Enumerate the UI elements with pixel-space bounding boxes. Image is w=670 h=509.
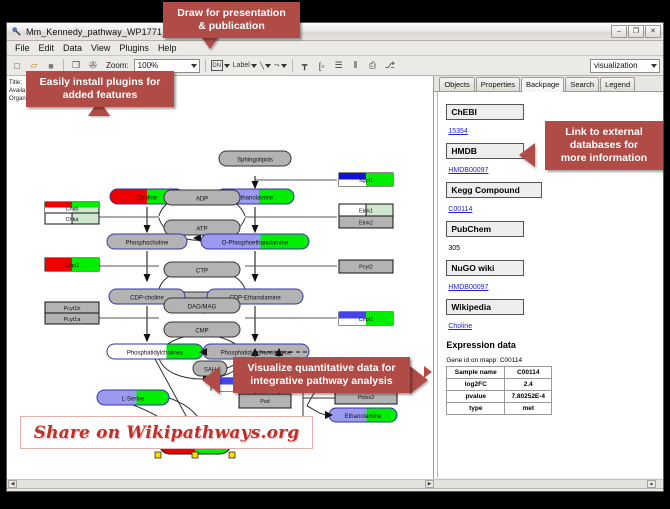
node-l-serine-left[interactable]: L-Serine <box>97 390 169 405</box>
gene-pcyt2[interactable]: Pcyt2 <box>339 260 393 273</box>
gene-chkb-label: Chkb <box>66 207 79 213</box>
node-choline-top-label: Choline <box>137 196 158 202</box>
gene-etnk2-label: Etnk2 <box>359 221 373 227</box>
gene-chka[interactable]: Chka <box>45 213 99 224</box>
link-chebi[interactable]: 15354 <box>448 128 467 135</box>
cell-pvalue-key: pvalue <box>447 391 505 403</box>
section-header-nugo: NuGO wiki <box>446 260 524 276</box>
distribute-icon[interactable]: ⦀ <box>349 59 363 73</box>
callout-link-line1: Link to external <box>553 126 655 139</box>
cell-type-key: type <box>447 403 505 415</box>
gene-chka-label: Chka <box>66 217 80 223</box>
gene-sgpl1-label: Sgpl1 <box>359 178 373 184</box>
callout-share-text: Share on Wikipathways.org <box>34 423 300 443</box>
gene-pcyt1b[interactable]: Pcyt1b <box>45 302 99 313</box>
link-icon[interactable]: ⎇ <box>383 59 397 73</box>
chevron-down-icon <box>265 64 271 68</box>
line-tool[interactable]: ╲ <box>260 62 271 70</box>
chevron-down-icon <box>651 64 657 68</box>
zoom-value: 100% <box>138 61 158 70</box>
section-header-pubchem: PubChem <box>446 221 524 237</box>
window-controls: – ❐ ✕ <box>611 25 663 38</box>
link-hmdb[interactable]: HMDB00097 <box>448 167 488 174</box>
node-ctp[interactable]: CTP <box>164 262 240 277</box>
callout-share: Share on Wikipathways.org <box>20 416 313 449</box>
link-kegg[interactable]: C00114 <box>448 206 472 213</box>
gene-pcyt1a[interactable]: Pcyt1a <box>45 313 99 324</box>
menu-plugins[interactable]: Plugins <box>115 42 154 55</box>
gene-psd[interactable]: Psd <box>239 394 291 408</box>
cell-type-value: met <box>505 403 552 415</box>
node-cmp[interactable]: CMP <box>164 322 240 337</box>
expression-data-title: Expression data <box>446 340 657 350</box>
tab-objects[interactable]: Objects <box>439 77 474 91</box>
stack-icon[interactable]: ☰ <box>332 59 346 73</box>
section-header-chebi: ChEBI <box>446 104 524 120</box>
callout-link-arrow-icon <box>519 143 535 167</box>
line-icon: ╲ <box>260 62 264 70</box>
scroll-left-arrow[interactable]: ◀ <box>8 480 17 488</box>
cell-log2fc-key: log2FC <box>447 379 505 391</box>
tab-legend[interactable]: Legend <box>600 77 635 91</box>
gene-cept1[interactable]: Cept1 <box>339 312 393 325</box>
tab-properties[interactable]: Properties <box>476 77 520 91</box>
gene-chkb[interactable]: Chkb <box>45 202 99 213</box>
callout-plugins: Easily install plugins for added feature… <box>26 71 174 107</box>
node-dagmag-label: DAG/MAG <box>188 305 217 311</box>
canvas-scrollbar[interactable]: ◀ ▶ ▲ <box>7 479 663 488</box>
node-l-serine-left-label: L-Serine <box>122 397 145 403</box>
menu-edit[interactable]: Edit <box>35 42 60 55</box>
close-button[interactable]: ✕ <box>645 25 661 38</box>
gene-cept1-label: Cept1 <box>359 317 374 323</box>
callout-draw-line2: & publication <box>171 20 292 33</box>
toolbar-separator-3 <box>292 59 293 72</box>
callout-plugins-line2: added features <box>34 89 166 102</box>
cell-sample-name-value: C00114 <box>505 367 552 379</box>
node-atp[interactable]: ATP <box>164 220 240 235</box>
expression-table: Sample name C00114 log2FC 2.4 pvalue 7.8… <box>446 366 552 415</box>
node-sphingolipids-label: Sphingolipids <box>237 158 273 164</box>
gene-chpt1-label: Chpt1 <box>65 263 80 269</box>
node-phosphatidylcholines[interactable]: Phosphatidylcholines <box>107 344 203 359</box>
cell-pvalue-value: 7.80252E-4 <box>505 391 552 403</box>
gene-pcyt1a-label: Pcyt1a <box>64 317 82 323</box>
node-cmp-label: CMP <box>195 329 208 335</box>
menu-data[interactable]: Data <box>59 42 87 55</box>
new-file-icon[interactable]: □ <box>10 59 24 73</box>
label-tool[interactable]: Label <box>233 62 257 69</box>
chevron-down-icon <box>281 64 287 68</box>
callout-link-line2: databases for <box>553 139 655 152</box>
callout-visualize-line2: integrative pathway analysis <box>241 375 402 388</box>
callout-link-line3: more information <box>553 152 655 165</box>
connector-tool[interactable]: ⤳ <box>274 62 287 70</box>
scroll-right-arrow[interactable]: ▶ <box>425 480 434 488</box>
label-tool-text: Label <box>233 62 250 69</box>
node-ethanolamine-bottom[interactable]: Ethanolamine <box>329 408 397 422</box>
value-pubchem: 305 <box>448 245 460 252</box>
table-row: type met <box>447 403 552 415</box>
node-o-phosphoethanolamine[interactable]: O-Phosphoethanolamine <box>201 234 309 249</box>
expression-pointer-arrow-icon <box>424 366 432 378</box>
menu-help[interactable]: Help <box>154 42 182 55</box>
gene-etnk1-label: Etnk1 <box>359 209 373 215</box>
chevron-down-icon <box>191 64 197 68</box>
toolbar-separator-2 <box>205 59 206 72</box>
align-icon[interactable]: ┳ <box>298 59 312 73</box>
gene-sgpl1[interactable]: Sgpl1 <box>339 173 393 186</box>
screenshot-root: Mm_Kennedy_pathway_WP1771_45176.gpml – ❐… <box>0 0 670 509</box>
cell-log2fc-value: 2.4 <box>505 379 552 391</box>
app-icon <box>11 26 22 37</box>
title-bar: Mm_Kennedy_pathway_WP1771_45176.gpml – ❐… <box>7 23 663 41</box>
panel-scroll-arrow[interactable]: ▲ <box>647 480 656 488</box>
section-header-hmdb: HMDB <box>446 143 524 159</box>
link-nugo[interactable]: HMDB00097 <box>448 284 488 291</box>
node-phosphocholine-label: Phosphocholine <box>126 241 169 247</box>
callout-link: Link to external databases for more info… <box>545 121 663 170</box>
table-row: pvalue 7.80252E-4 <box>447 391 552 403</box>
gene-etnk1[interactable]: Etnk1 <box>339 204 393 216</box>
zoom-label: Zoom: <box>106 61 129 70</box>
gene-ptdss2-label: Ptdss2 <box>358 395 375 401</box>
connector-icon: ⤳ <box>274 62 280 70</box>
node-atp-label: ATP <box>196 227 207 233</box>
callout-visualize: Visualize quantitative data for integrat… <box>233 357 410 393</box>
menu-bar: File Edit Data View Plugins Help <box>7 41 663 56</box>
datanode-tool[interactable]: DN <box>211 60 230 71</box>
node-sphingolipids[interactable]: Sphingolipids <box>219 151 291 166</box>
callout-draw: Draw for presentation & publication <box>163 2 300 38</box>
callout-draw-line1: Draw for presentation <box>171 7 292 20</box>
node-ethanolamine-bottom-label: Ethanolamine <box>345 414 382 420</box>
status-bar: | Gene database: ...m_Derby_20120602.bri… <box>7 488 663 492</box>
chevron-down-icon <box>251 64 257 68</box>
callout-plugins-line1: Easily install plugins for <box>34 76 166 89</box>
callout-visualize-arrow-left-icon <box>202 366 220 394</box>
gene-chpt1[interactable]: Chpt1 <box>45 258 99 271</box>
node-ctp-label: CTP <box>196 269 208 275</box>
link-wikipedia[interactable]: Choline <box>448 323 472 330</box>
visualization-value: visualization <box>594 61 638 70</box>
menu-file[interactable]: File <box>11 42 35 55</box>
maximize-button[interactable]: ❐ <box>628 25 644 38</box>
node-adp[interactable]: ADP <box>164 190 240 205</box>
gene-id-line: Gene id on mapp: C00114 <box>446 357 657 364</box>
visualization-combo[interactable]: visualization <box>590 59 660 73</box>
group-icon[interactable]: [▫ <box>315 59 329 73</box>
gene-pcyt1b-label: Pcyt1b <box>64 306 81 312</box>
minimize-button[interactable]: – <box>611 25 627 38</box>
panel-left-rule <box>437 92 442 478</box>
section-header-wikipedia: Wikipedia <box>446 299 524 315</box>
section-header-kegg: Kegg Compound <box>446 182 542 198</box>
node-cdp-choline-label: CDP-choline <box>130 296 164 302</box>
cell-sample-name-key: Sample name <box>447 367 505 379</box>
chevron-down-icon <box>224 64 230 68</box>
node-phosphatidylcholines-label: Phosphatidylcholines <box>127 351 183 357</box>
tab-backpage[interactable]: Backpage <box>521 77 564 92</box>
gene-pcyt2-label: Pcyt2 <box>359 265 373 271</box>
table-row: Sample name C00114 <box>447 367 552 379</box>
gene-etnk2[interactable]: Etnk2 <box>339 216 393 228</box>
node-adp-label: ADP <box>196 197 208 203</box>
node-ethanolamine-top-label: Ethanolamine <box>237 196 274 202</box>
gene-psd-label: Psd <box>260 399 269 405</box>
menu-view[interactable]: View <box>87 42 115 55</box>
node-dagmag[interactable]: DAG/MAG <box>164 298 240 313</box>
callout-visualize-line1: Visualize quantitative data for <box>241 362 402 375</box>
datanode-icon: DN <box>211 60 223 71</box>
tab-search[interactable]: Search <box>565 77 599 91</box>
print-icon[interactable]: ⎙ <box>366 59 380 73</box>
node-o-phosphoethanolamine-label: O-Phosphoethanolamine <box>222 241 289 247</box>
table-row: log2FC 2.4 <box>447 379 552 391</box>
node-phosphocholine[interactable]: Phosphocholine <box>107 234 187 249</box>
panel-tabstrip: Objects Properties Backpage Search Legen… <box>434 76 663 92</box>
